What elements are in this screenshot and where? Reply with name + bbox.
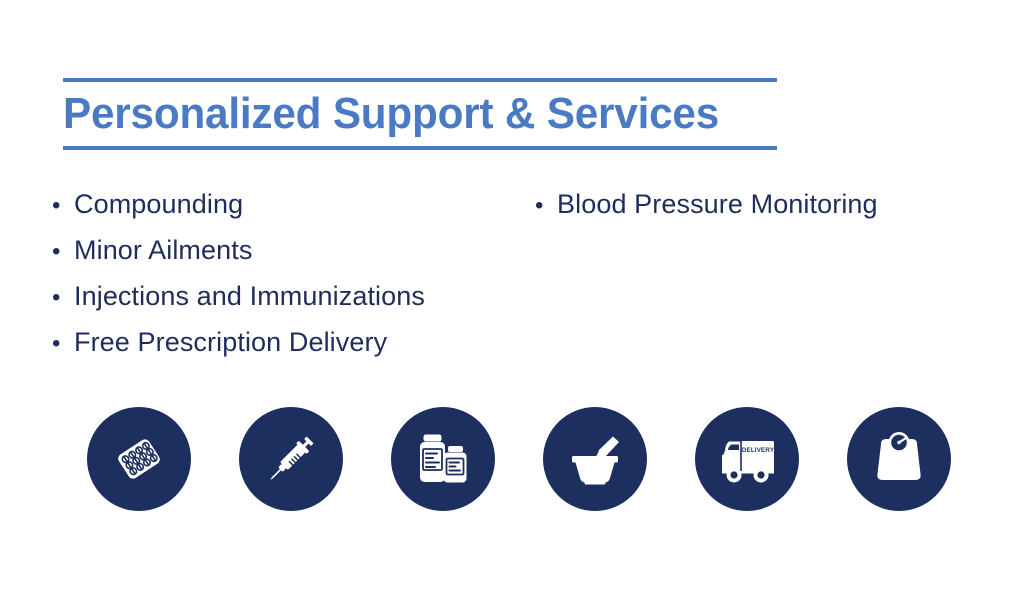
list-item-label: Compounding xyxy=(74,181,522,227)
services-list-right: • Blood Pressure Monitoring xyxy=(535,181,1005,227)
bullet-marker-icon: • xyxy=(535,183,557,229)
bullet-marker-icon: • xyxy=(52,183,74,229)
bullet-marker-icon: • xyxy=(52,229,74,275)
page-title: Personalized Support & Services xyxy=(63,82,748,146)
syringe-icon xyxy=(260,428,322,490)
list-item: • Minor Ailments xyxy=(52,227,522,273)
icon-badge-weight-scale xyxy=(847,407,951,511)
list-item: • Free Prescription Delivery xyxy=(52,319,522,365)
list-item-label: Blood Pressure Monitoring xyxy=(557,181,1005,227)
truck-delivery-label: DELIVERY xyxy=(742,447,775,454)
service-icon-row: DELIVERY xyxy=(87,407,951,511)
title-rule-bottom xyxy=(63,146,777,150)
list-item-label: Free Prescription Delivery xyxy=(74,319,522,365)
title-block: Personalized Support & Services xyxy=(63,78,777,150)
icon-badge-delivery-truck: DELIVERY xyxy=(695,407,799,511)
slide-canvas: Personalized Support & Services • Compou… xyxy=(0,0,1025,590)
icon-badge-pill-bottles xyxy=(391,407,495,511)
list-item-label: Minor Ailments xyxy=(74,227,522,273)
list-item: • Compounding xyxy=(52,181,522,227)
pill-bottles-icon xyxy=(412,428,474,490)
mortar-pestle-icon xyxy=(564,428,626,490)
bullet-marker-icon: • xyxy=(52,275,74,321)
bullet-marker-icon: • xyxy=(52,321,74,367)
blister-pack-icon xyxy=(108,428,170,490)
services-list-left: • Compounding • Minor Ailments • Injecti… xyxy=(52,181,522,365)
list-item-label: Injections and Immunizations xyxy=(74,273,522,319)
list-item: • Injections and Immunizations xyxy=(52,273,522,319)
icon-badge-blister-pack xyxy=(87,407,191,511)
weight-scale-icon xyxy=(868,428,930,490)
list-item: • Blood Pressure Monitoring xyxy=(535,181,1005,227)
delivery-truck-icon: DELIVERY xyxy=(713,425,781,493)
icon-badge-mortar-pestle xyxy=(543,407,647,511)
icon-badge-syringe xyxy=(239,407,343,511)
